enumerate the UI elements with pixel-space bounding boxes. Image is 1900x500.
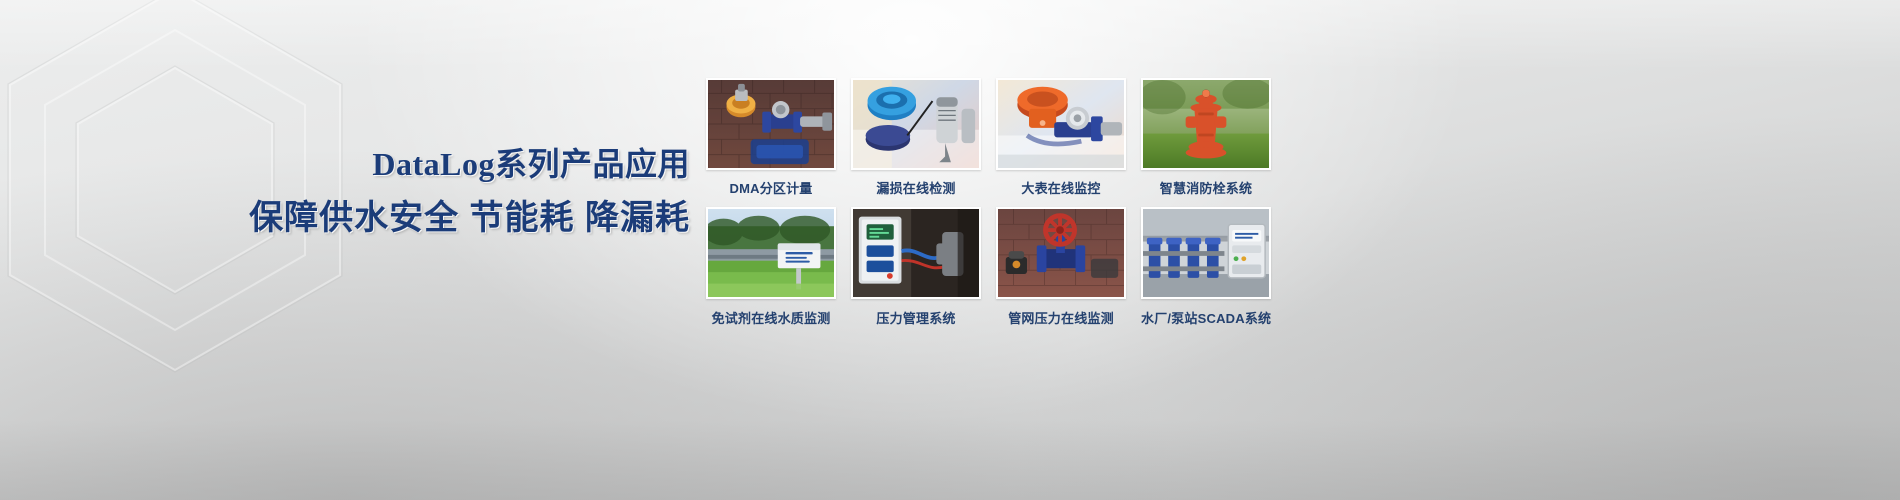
reagent-free-water-quality-photo <box>706 207 836 299</box>
waterworks-scada-photo <box>1141 207 1271 299</box>
promo-banner: DataLog系列产品应用 保障供水安全 节能耗 降漏耗 <box>0 0 1900 500</box>
headline-primary: DataLog系列产品应用 <box>0 148 690 180</box>
product-label: 压力管理系统 <box>851 308 981 327</box>
dma-zone-metering-photo <box>706 78 836 170</box>
headline-block: DataLog系列产品应用 保障供水安全 节能耗 降漏耗 <box>0 148 690 235</box>
product-card-smart-hydrant-system[interactable]: 智慧消防栓系统 <box>1141 78 1271 197</box>
product-label: 大表在线监控 <box>996 178 1126 197</box>
large-meter-monitoring-photo <box>996 78 1126 170</box>
product-card-reagent-free-water-quality[interactable]: 免试剂在线水质监测 <box>706 207 836 327</box>
product-label: 免试剂在线水质监测 <box>706 308 836 327</box>
product-label: 智慧消防栓系统 <box>1141 178 1271 197</box>
product-label: 水厂/泵站SCADA系统 <box>1141 308 1271 327</box>
product-card-pipe-network-pressure[interactable]: 管网压力在线监测 <box>996 207 1126 327</box>
product-card-leak-online-detection[interactable]: 漏损在线检测 <box>851 78 981 197</box>
product-card-dma-zone-metering[interactable]: DMA分区计量 <box>706 78 836 197</box>
product-card-large-meter-monitoring[interactable]: 大表在线监控 <box>996 78 1126 197</box>
smart-hydrant-system-photo <box>1141 78 1271 170</box>
pressure-management-system-photo <box>851 207 981 299</box>
product-card-waterworks-scada[interactable]: 水厂/泵站SCADA系统 <box>1141 207 1271 327</box>
hexagon-watermark-icon <box>0 0 410 500</box>
product-label: 漏损在线检测 <box>851 178 981 197</box>
product-label: 管网压力在线监测 <box>996 308 1126 327</box>
pipe-network-pressure-photo <box>996 207 1126 299</box>
product-application-grid: DMA分区计量 <box>706 78 1272 327</box>
leak-online-detection-photo <box>851 78 981 170</box>
product-card-pressure-management-system[interactable]: 压力管理系统 <box>851 207 981 327</box>
headline-secondary: 保障供水安全 节能耗 降漏耗 <box>0 201 690 235</box>
product-label: DMA分区计量 <box>706 178 836 197</box>
